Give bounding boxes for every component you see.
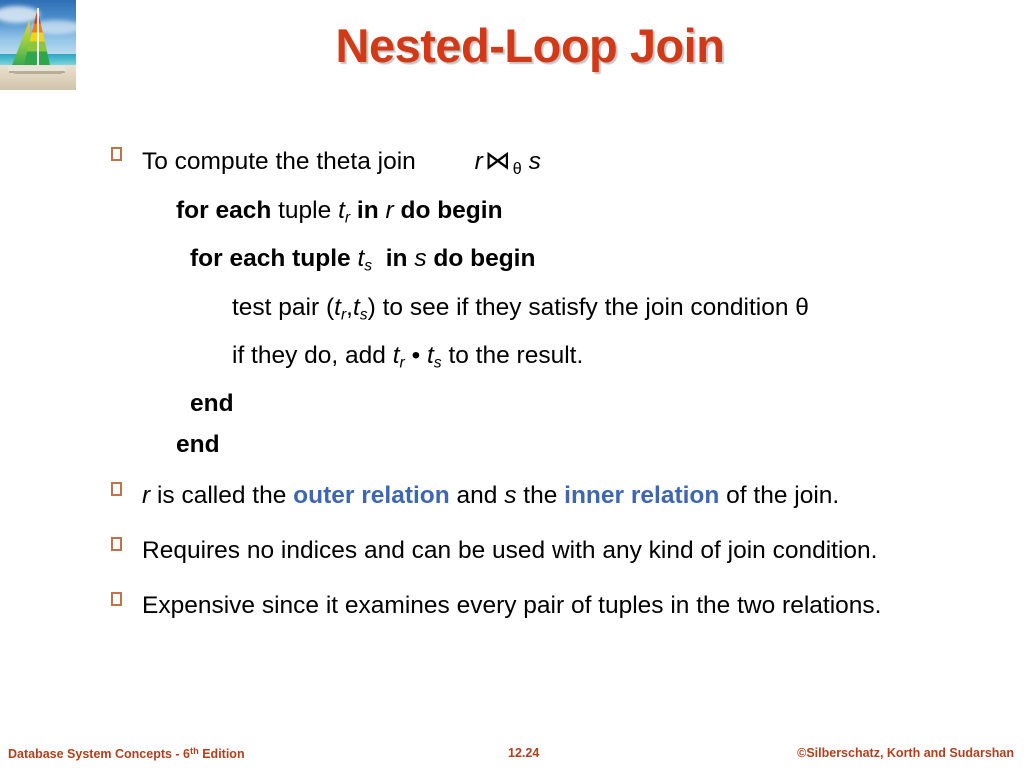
logo-hull-shadow bbox=[14, 71, 62, 74]
join-expr-left: r bbox=[475, 148, 483, 175]
inner-relation-highlight: inner relation bbox=[564, 482, 719, 509]
code-line-for-each-r: for each tuple tr in r do begin bbox=[142, 190, 988, 238]
join-bowtie-icon: ⋈ bbox=[483, 145, 513, 175]
relation-s-symbol: s bbox=[504, 482, 516, 509]
bullet-marker-icon bbox=[111, 592, 122, 606]
bullet-text-expensive-every-pair: Expensive since it examines every pair o… bbox=[142, 585, 962, 626]
code-line-end-inner: end bbox=[142, 383, 988, 424]
bullet-item-expensive-every-pair: Expensive since it examines every pair o… bbox=[108, 585, 988, 626]
slide-body: To compute the theta join r⋈θ s for each… bbox=[108, 140, 988, 626]
footer-book-title: Database System Concepts - 6th Edition bbox=[8, 746, 245, 761]
relation-suffix: of the join. bbox=[719, 482, 839, 509]
bullet-item-no-indices-required: Requires no indices and can be used with… bbox=[108, 530, 988, 571]
beach-sailboat-logo-image bbox=[0, 0, 77, 90]
code-line-if-they-do: if they do, add tr • ts to the result. bbox=[142, 335, 988, 383]
outer-relation-highlight: outer relation bbox=[293, 482, 450, 509]
join-expr-subscript: θ bbox=[513, 160, 522, 178]
footer-edition-superscript: th bbox=[190, 746, 199, 756]
inner-relation-prefix: the bbox=[516, 482, 564, 509]
logo-mast bbox=[37, 8, 39, 66]
footer-book-title-suffix: Edition bbox=[199, 747, 245, 761]
relation-r-symbol: r bbox=[142, 482, 150, 509]
slide-title: Nested-Loop Join bbox=[90, 18, 970, 73]
footer-page-number: 12.24 bbox=[508, 746, 539, 760]
bullet-marker-icon bbox=[111, 482, 122, 496]
spacer bbox=[108, 516, 988, 530]
join-expr-right: s bbox=[529, 148, 541, 175]
slide-footer: Database System Concepts - 6th Edition 1… bbox=[0, 746, 1024, 766]
bullet-item-theta-join-algorithm: To compute the theta join r⋈θ s for each… bbox=[108, 140, 988, 465]
outer-relation-prefix: is called the bbox=[150, 482, 293, 509]
bullet-item-outer-inner-relation: r is called the outer relation and s the… bbox=[108, 475, 988, 516]
spacer bbox=[108, 571, 988, 585]
code-line-test-pair: test pair (tr,ts) to see if they satisfy… bbox=[142, 287, 988, 335]
bullet-marker-icon bbox=[111, 147, 122, 161]
theta-join-intro-text: To compute the theta join bbox=[142, 148, 416, 175]
footer-copyright: ©Silberschatz, Korth and Sudarshan bbox=[797, 746, 1014, 760]
bullet-text-outer-inner-relation: r is called the outer relation and s the… bbox=[142, 475, 988, 516]
footer-book-title-prefix: Database System Concepts - 6 bbox=[8, 747, 190, 761]
code-line-end-outer: end bbox=[142, 424, 988, 465]
bullet-marker-icon bbox=[111, 537, 122, 551]
code-line-for-each-s: for each tuple ts in s do begin bbox=[142, 238, 988, 286]
bullet-text-no-indices-required: Requires no indices and can be used with… bbox=[142, 530, 952, 571]
bullet-text-theta-join-intro: To compute the theta join r⋈θ s bbox=[142, 140, 988, 190]
conjunction-and: and bbox=[450, 482, 505, 509]
spacer bbox=[108, 465, 988, 475]
